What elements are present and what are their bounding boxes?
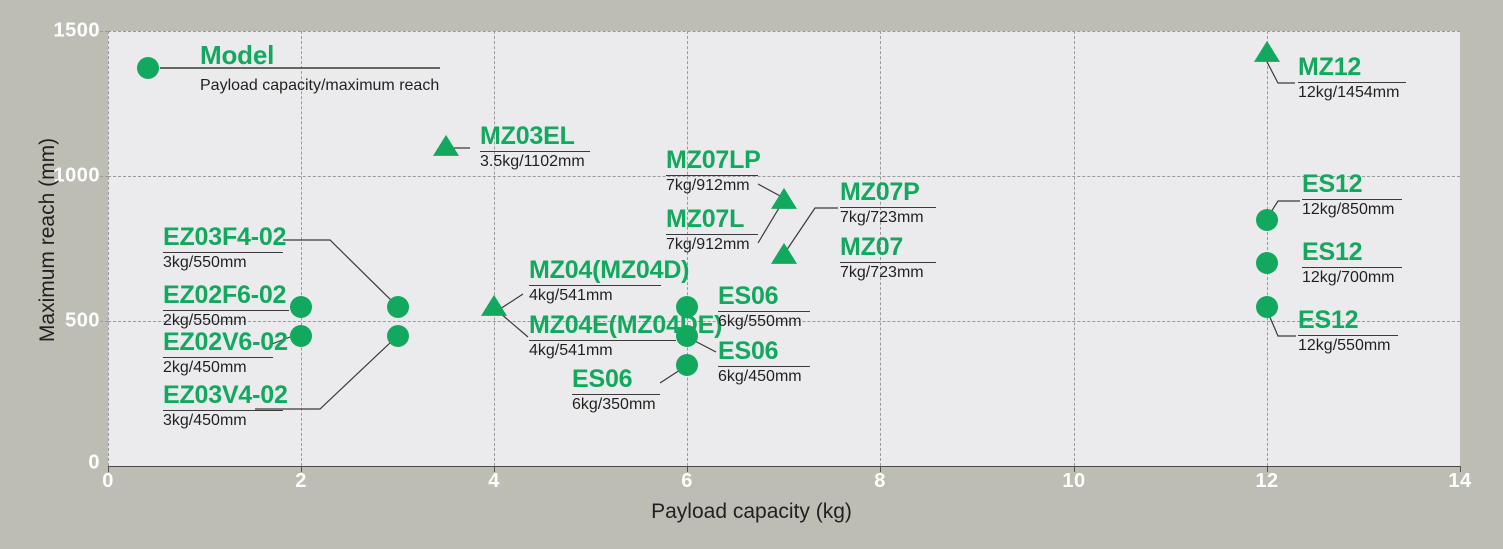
label-name-es12-550: ES12 (1298, 308, 1398, 333)
label-spec-ez03f4: 3kg/550mm (163, 254, 283, 272)
y-tick-label-1000: 1000 (54, 165, 101, 188)
label-spec-es12-550: 12kg/550mm (1298, 337, 1398, 355)
callout-es12-550: ES12 12kg/550mm (1298, 308, 1398, 355)
point-ez02v6[interactable] (290, 325, 312, 347)
point-mz04[interactable] (481, 295, 507, 316)
gridline-x-4 (494, 31, 495, 466)
callout-mz04e: MZ04E(MZ04DE) 4kg/541mm (529, 313, 676, 360)
callout-legend: Model Payload capacity/maximum reach (200, 42, 440, 95)
label-spec-es06-350: 6kg/350mm (572, 396, 660, 414)
label-spec-es12-700: 12kg/700mm (1302, 269, 1402, 287)
label-spec-ez03v4: 3kg/450mm (163, 412, 283, 430)
y-tick-500 (100, 321, 108, 322)
gridline-x-2 (301, 31, 302, 466)
label-name-ez03v4: EZ03V4-02 (163, 383, 283, 408)
x-tick-label-14: 14 (1448, 470, 1471, 493)
callout-mz03el: MZ03EL 3.5kg/1102mm (480, 124, 590, 171)
y-tick-label-500: 500 (65, 310, 100, 333)
point-ez02f6[interactable] (290, 296, 312, 318)
x-tick-label-6: 6 (681, 470, 693, 493)
label-name-es06-550: ES06 (718, 284, 810, 309)
callout-es12-850: ES12 12kg/850mm (1302, 172, 1402, 219)
label-name-mz07l: MZ07L (666, 207, 758, 232)
label-name-ez02f6: EZ02F6-02 (163, 283, 289, 308)
x-tick-label-12: 12 (1255, 470, 1278, 493)
point-mz03el[interactable] (433, 135, 459, 156)
label-spec-mz04e: 4kg/541mm (529, 342, 676, 360)
callout-mz07: MZ07 7kg/723mm (840, 235, 936, 282)
point-mz07l[interactable] (771, 188, 797, 209)
x-tick-label-8: 8 (874, 470, 886, 493)
legend-spec: Payload capacity/maximum reach (200, 77, 440, 95)
label-spec-mz07lp: 7kg/912mm (666, 177, 758, 195)
label-name-mz07lp: MZ07LP (666, 148, 758, 173)
x-tick-label-10: 10 (1062, 470, 1085, 493)
point-ez03v4[interactable] (387, 325, 409, 347)
label-spec-mz12: 12kg/1454mm (1298, 84, 1406, 102)
label-spec-mz07p: 7kg/723mm (840, 209, 936, 227)
label-spec-es12-850: 12kg/850mm (1302, 201, 1402, 219)
label-spec-mz04: 4kg/541mm (529, 287, 661, 305)
gridline-x-12 (1267, 31, 1268, 466)
callout-ez02v6: EZ02V6-02 2kg/450mm (163, 330, 273, 377)
label-spec-ez02v6: 2kg/450mm (163, 359, 273, 377)
callout-es12-700: ES12 12kg/700mm (1302, 240, 1402, 287)
callout-ez03v4: EZ03V4-02 3kg/450mm (163, 383, 283, 430)
label-name-es12-700: ES12 (1302, 240, 1402, 265)
callout-mz04: MZ04(MZ04D) 4kg/541mm (529, 258, 661, 305)
callout-es06-450: ES06 6kg/450mm (718, 339, 810, 386)
label-name-mz04: MZ04(MZ04D) (529, 258, 661, 283)
x-axis-title: Payload capacity (kg) (0, 500, 1503, 524)
callout-es06-550: ES06 6kg/550mm (718, 284, 810, 331)
label-name-es06-450: ES06 (718, 339, 810, 364)
label-name-mz07p: MZ07P (840, 180, 936, 205)
y-tick-label-1500: 1500 (54, 20, 101, 43)
callout-mz07l: MZ07L 7kg/912mm (666, 207, 758, 254)
point-mz12[interactable] (1254, 41, 1280, 62)
callout-es06-350: ES06 6kg/350mm (572, 367, 660, 414)
x-axis-line (108, 466, 1460, 467)
callout-ez03f4: EZ03F4-02 3kg/550mm (163, 225, 283, 272)
gridline-y-1500 (108, 31, 1460, 32)
label-spec-mz07: 7kg/723mm (840, 264, 936, 282)
point-es06-350[interactable] (676, 354, 698, 376)
point-es12-550[interactable] (1256, 296, 1278, 318)
gridline-x-10 (1074, 31, 1075, 466)
x-tick-label-0: 0 (102, 470, 114, 493)
x-tick-label-4: 4 (488, 470, 500, 493)
callout-ez02f6: EZ02F6-02 2kg/550mm (163, 283, 289, 330)
callout-mz07lp: MZ07LP 7kg/912mm (666, 148, 758, 195)
y-tick-label-0: 0 (88, 452, 100, 475)
y-tick-1500 (100, 31, 108, 32)
label-spec-mz07l: 7kg/912mm (666, 236, 758, 254)
label-name-es12-850: ES12 (1302, 172, 1402, 197)
gridline-x-0 (108, 31, 109, 466)
label-spec-es06-550: 6kg/550mm (718, 313, 810, 331)
x-tick-label-2: 2 (295, 470, 307, 493)
point-es12-850[interactable] (1256, 209, 1278, 231)
label-name-mz03el: MZ03EL (480, 124, 590, 149)
point-es12-700[interactable] (1256, 252, 1278, 274)
callout-mz07p: MZ07P 7kg/723mm (840, 180, 936, 227)
y-axis-title-wrap: Maximum reach (mm) (18, 0, 48, 480)
y-axis-title: Maximum reach (mm) (36, 60, 60, 420)
label-name-es06-350: ES06 (572, 367, 660, 392)
chart-root: 0 2 4 6 8 10 12 14 1500 1000 500 0 Paylo… (0, 0, 1503, 549)
gridline-y-1000 (108, 176, 1460, 177)
label-name-ez03f4: EZ03F4-02 (163, 225, 283, 250)
y-tick-1000 (100, 176, 108, 177)
point-ez03f4[interactable] (387, 296, 409, 318)
label-spec-mz03el: 3.5kg/1102mm (480, 153, 590, 171)
point-mz07[interactable] (771, 243, 797, 264)
label-spec-es06-450: 6kg/450mm (718, 368, 810, 386)
callout-mz12: MZ12 12kg/1454mm (1298, 55, 1406, 102)
legend-name: Model (200, 42, 440, 68)
label-name-mz12: MZ12 (1298, 55, 1406, 80)
legend-marker (137, 57, 159, 79)
label-name-mz07: MZ07 (840, 235, 936, 260)
label-name-mz04e: MZ04E(MZ04DE) (529, 313, 676, 338)
label-name-ez02v6: EZ02V6-02 (163, 330, 273, 355)
